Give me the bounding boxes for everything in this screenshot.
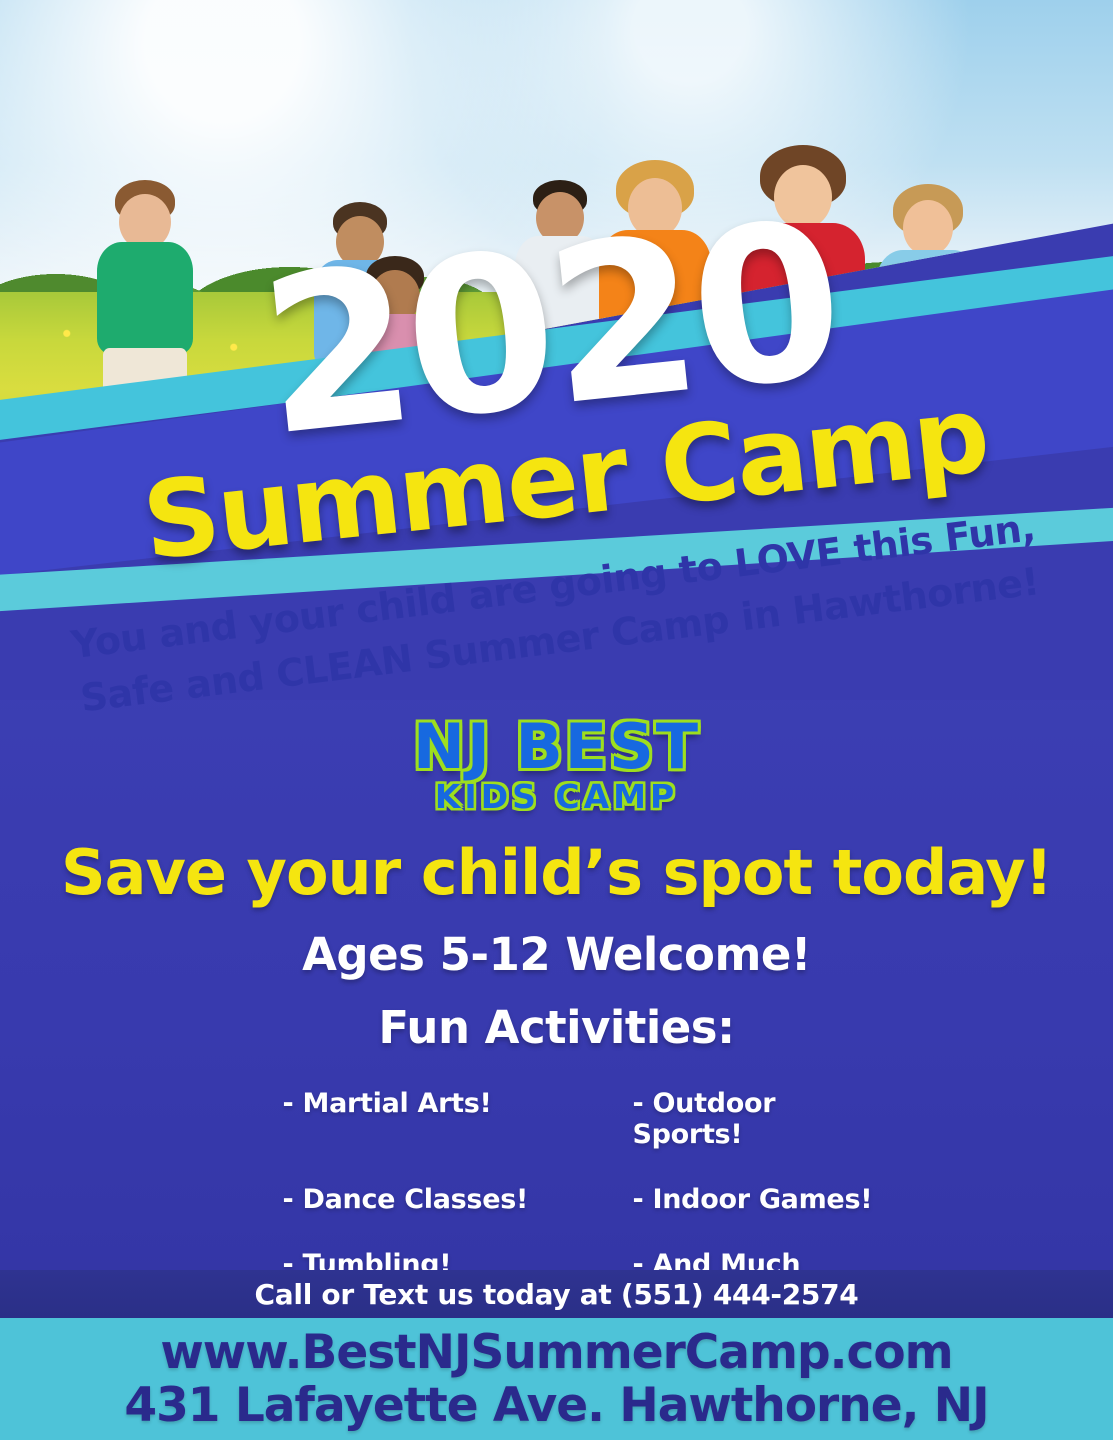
address-text: 431 Lafayette Ave. Hawthorne, NJ: [124, 1381, 988, 1430]
logo-bottom-text: KIDS CAMP: [0, 780, 1113, 813]
fun-activities-heading: Fun Activities:: [0, 1004, 1113, 1051]
save-spot-headline: Save your child’s spot today!: [0, 840, 1113, 905]
logo-top-text: NJ BEST: [0, 716, 1113, 778]
phone-text[interactable]: Call or Text us today at (551) 444-2574: [255, 1278, 859, 1311]
website-text[interactable]: www.BestNJSummerCamp.com: [160, 1328, 952, 1377]
ages-welcome-text: Ages 5-12 Welcome!: [0, 931, 1113, 978]
activity-item: - Indoor Games!: [557, 1184, 877, 1215]
nj-best-kids-camp-logo: NJ BEST KIDS CAMP: [0, 716, 1113, 813]
contact-banner: www.BestNJSummerCamp.com 431 Lafayette A…: [0, 1318, 1113, 1440]
activity-item: - Martial Arts!: [237, 1088, 557, 1150]
activity-item: - Dance Classes!: [237, 1184, 557, 1215]
main-content: Save your child’s spot today! Ages 5-12 …: [0, 840, 1113, 1311]
summer-camp-flyer: 2020 Summer Camp You and your child are …: [0, 0, 1113, 1440]
phone-banner: Call or Text us today at (551) 444-2574: [0, 1270, 1113, 1318]
activity-item: - Outdoor Sports!: [557, 1088, 877, 1150]
